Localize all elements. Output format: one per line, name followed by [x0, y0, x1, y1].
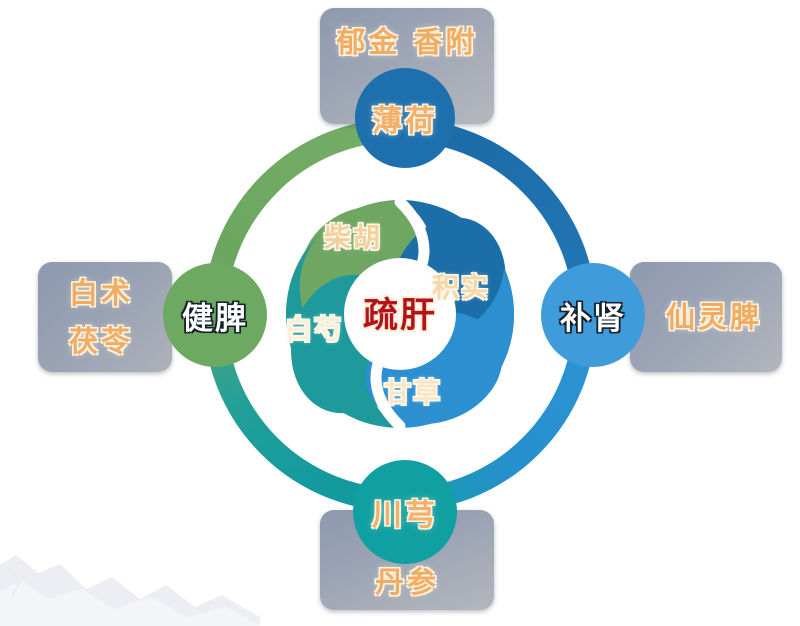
box-left-line-2: 茯苓: [69, 324, 133, 358]
petal-label-chaihu: 柴胡: [324, 216, 382, 255]
box-top-line-1: 郁金 香附: [336, 25, 477, 59]
box-right[interactable]: 仙灵脾: [630, 262, 782, 372]
hub-right[interactable]: 补肾: [541, 263, 645, 367]
hub-left-label: 健脾: [182, 293, 248, 338]
hub-right-label: 补肾: [560, 293, 626, 338]
center-label: 疏肝: [363, 287, 437, 338]
center-label-wrap: 疏肝: [345, 281, 455, 343]
diagram-canvas: 郁金 香附 白术 茯苓 仙灵脾 丹参 薄荷 健脾 补肾 川芎: [0, 0, 800, 626]
center-pinwheel: 柴胡 积实 白芍 甘草 疏肝: [282, 196, 518, 432]
box-left-line-1: 白术: [69, 276, 133, 310]
petal-label-baishao: 白芍: [285, 308, 343, 347]
hub-top-label: 薄荷: [372, 96, 438, 140]
hub-top[interactable]: 薄荷: [355, 68, 455, 168]
box-bottom-line-1: 丹参: [375, 565, 439, 599]
hub-left[interactable]: 健脾: [163, 263, 267, 367]
hub-bottom-label: 川芎: [372, 490, 438, 534]
petal-label-gancao: 甘草: [384, 371, 442, 410]
hub-bottom[interactable]: 川芎: [353, 460, 457, 564]
box-right-line-1: 仙灵脾: [666, 300, 762, 334]
box-left[interactable]: 白术 茯苓: [38, 262, 172, 372]
